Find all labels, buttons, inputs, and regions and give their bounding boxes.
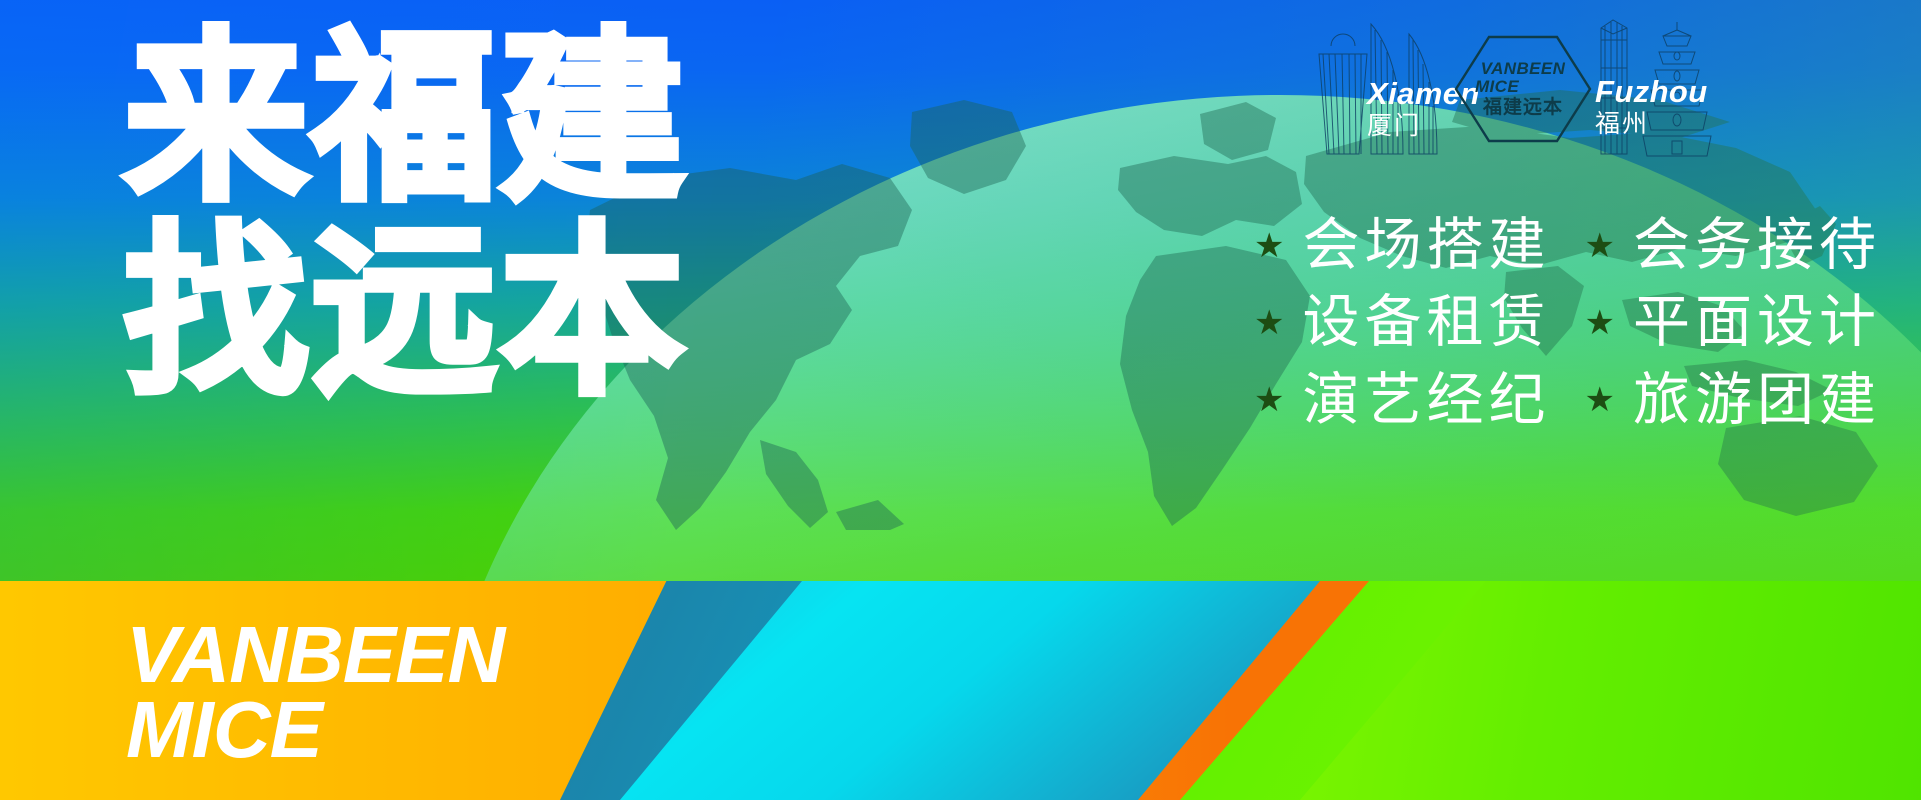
banner-stage: 来福建 找远本 ★ 会场搭建 ★ 会务接待 ★ 设备租赁 ★ 平面设计 ★ [0,0,1921,581]
hex-logo-text: VANBEEN MICE 福建远本 [1453,34,1593,144]
service-label: 平面设计 [1633,289,1881,356]
headline-line-2: 找远本 [124,222,688,402]
service-label: 设备租赁 [1303,289,1551,356]
headline-line-1: 来福建 [124,28,688,208]
service-label: 会务接待 [1633,212,1881,279]
xiamen-lantern-icon [1319,34,1367,154]
star-icon: ★ [1254,229,1284,263]
service-item: ★ 平面设计 [1585,289,1881,356]
footer-brand-line-1: VANBEEN [126,617,504,692]
star-icon: ★ [1254,306,1284,340]
service-item: ★ 设备租赁 [1254,289,1550,356]
promo-banner: 来福建 找远本 ★ 会场搭建 ★ 会务接待 ★ 设备租赁 ★ 平面设计 ★ [0,0,1921,800]
footer-brand-bar: VANBEEN MICE [0,581,1921,800]
service-item: ★ 演艺经纪 [1254,367,1550,434]
star-icon: ★ [1585,306,1615,340]
service-item: ★ 旅游团建 [1585,367,1881,434]
star-icon: ★ [1585,229,1615,263]
footer-brand-wordmark: VANBEEN MICE [126,617,504,767]
city-name-en: Fuzhou [1595,76,1708,107]
footer-brand-line-2: MICE [126,692,504,767]
vanbeen-hex-logo: VANBEEN MICE 福建远本 [1453,34,1593,144]
service-item: ★ 会场搭建 [1254,212,1550,279]
star-icon: ★ [1585,383,1615,417]
service-label: 会场搭建 [1303,212,1551,279]
hex-brand-line-2: MICE [1475,78,1519,96]
city-label-fuzhou: Fuzhou 福州 [1595,76,1708,139]
hex-brand-line-1: VANBEEN [1481,60,1566,78]
service-item: ★ 会务接待 [1585,212,1881,279]
service-label: 演艺经纪 [1303,367,1551,434]
city-name-cn: 福州 [1595,110,1708,139]
services-list: ★ 会场搭建 ★ 会务接待 ★ 设备租赁 ★ 平面设计 ★ 演艺经纪 ★ 旅游团… [1254,212,1881,434]
hex-brand-line-3: 福建远本 [1483,98,1563,118]
star-icon: ★ [1254,383,1284,417]
city-logo-lockup: Xiamen 厦门 Fuzhou 福州 VANBEEN MICE 福建远本 [1305,6,1735,171]
service-label: 旅游团建 [1633,367,1881,434]
page-title: 来福建 找远本 [124,28,688,403]
